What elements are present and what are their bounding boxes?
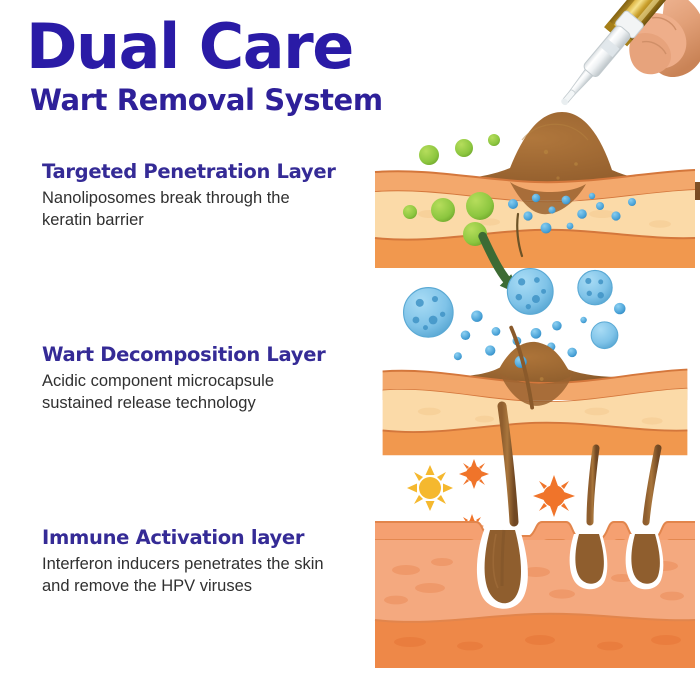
blue-microcapsules (404, 269, 618, 349)
section-immune-activation: Immune Activation layer Interferon induc… (42, 526, 372, 598)
illustration-column (370, 0, 700, 700)
poster-root: Dual Care Wart Removal System Targeted P… (0, 0, 700, 700)
targeted-penetration-panel (370, 0, 700, 260)
section-body-1: Nanoliposomes break through the keratin … (42, 188, 342, 232)
section-body-3: Interferon inducers penetrates the skin … (42, 554, 342, 598)
text-column: Dual Care Wart Removal System Targeted P… (0, 0, 380, 700)
wart-decomposition-panel (370, 240, 700, 440)
dropper-tip (553, 10, 644, 112)
section-heading-2: Wart Decomposition Layer (42, 343, 372, 366)
section-targeted-penetration: Targeted Penetration Layer Nanoliposomes… (42, 160, 372, 232)
section-wart-decomposition: Wart Decomposition Layer Acidic componen… (42, 343, 372, 415)
page-subtitle: Wart Removal System (30, 83, 386, 117)
section-heading-3: Immune Activation layer (42, 526, 372, 549)
section-body-2: Acidic component microcapsule sustained … (42, 371, 342, 415)
skin-cross-section (375, 522, 695, 668)
page-title: Dual Care (26, 18, 386, 77)
title-block: Dual Care Wart Removal System (26, 18, 386, 117)
immune-activation-panel (370, 430, 700, 670)
sun-burst-icon (407, 465, 453, 511)
section-heading-1: Targeted Penetration Layer (42, 160, 372, 183)
